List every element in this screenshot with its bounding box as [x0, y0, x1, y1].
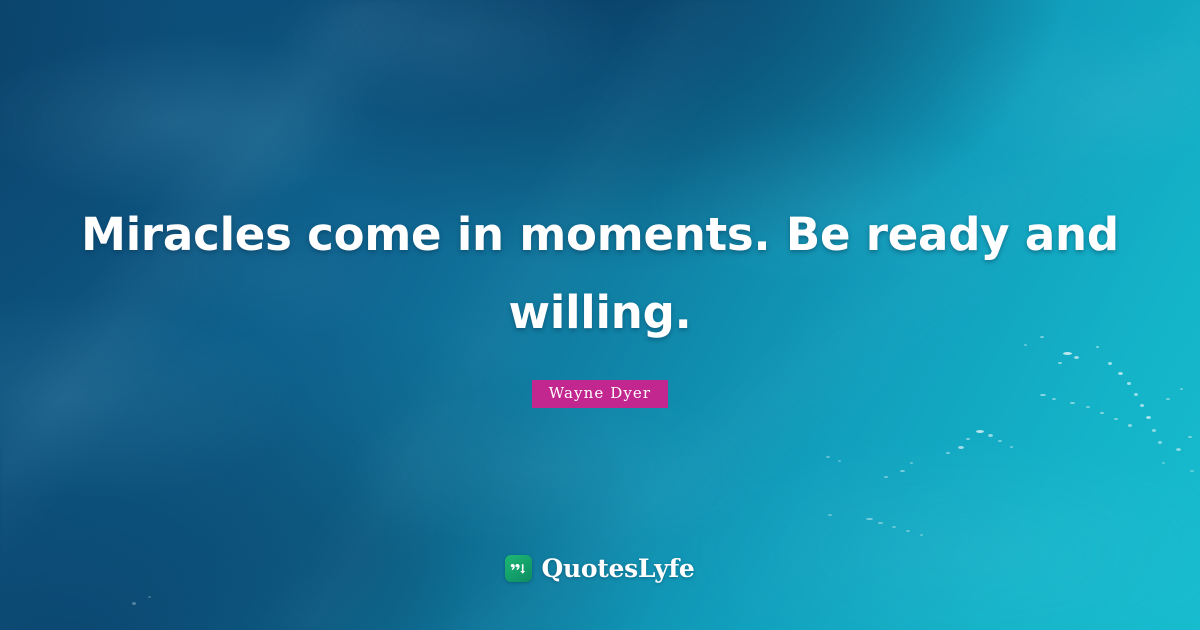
quote-mark-icon: [505, 555, 532, 582]
author-attribution: Wayne Dyer: [0, 380, 1200, 408]
quote-line-2: willing.: [70, 274, 1130, 352]
quoteslyfe-logo[interactable]: QuotesLyfe: [0, 555, 1200, 582]
quote-block: Miracles come in moments. Be ready and w…: [0, 196, 1200, 352]
logo-wordmark: QuotesLyfe: [541, 556, 694, 581]
quote-card: Miracles come in moments. Be ready and w…: [0, 0, 1200, 630]
author-name-badge: Wayne Dyer: [532, 380, 668, 408]
quote-line-1: Miracles come in moments. Be ready and: [70, 196, 1130, 274]
